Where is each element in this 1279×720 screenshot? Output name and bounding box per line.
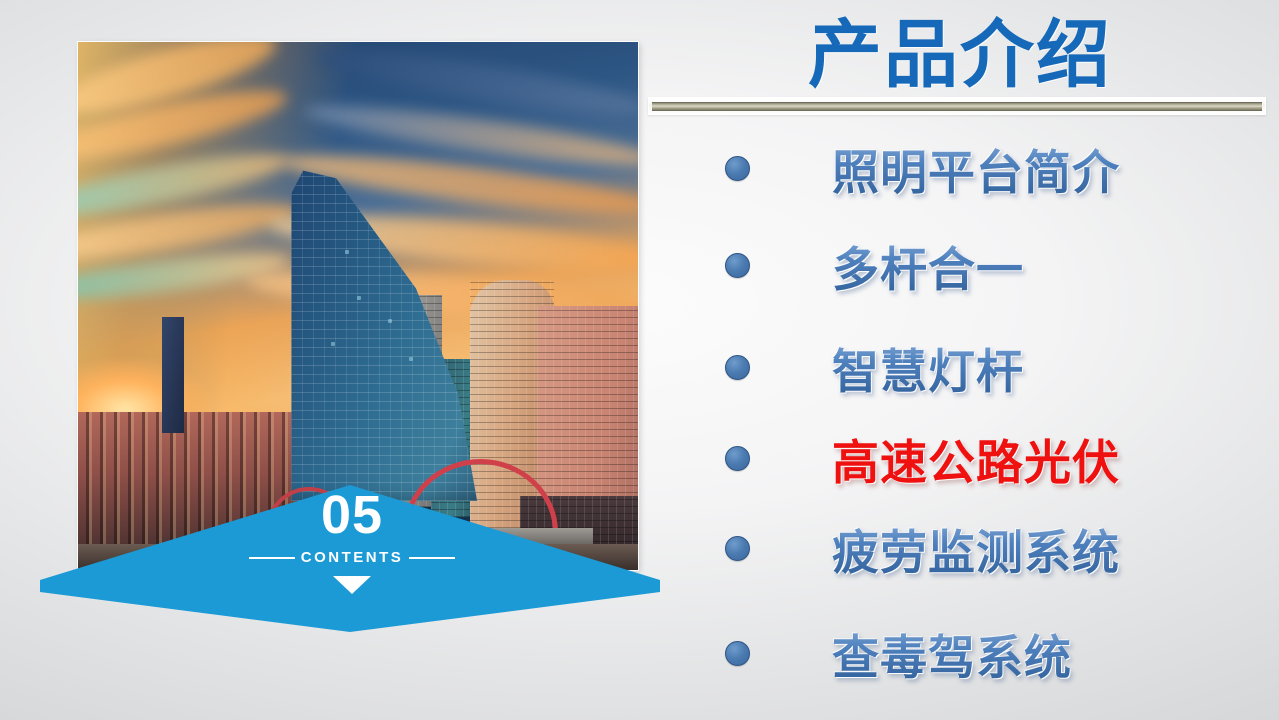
page-title: 产品介绍 <box>660 2 1260 94</box>
bullet-dot-icon <box>725 446 750 471</box>
contents-rule-left <box>249 557 295 559</box>
list-item-label: 照明平台简介 <box>832 134 1120 203</box>
section-number: 05 <box>321 488 383 542</box>
contents-label: CONTENTS <box>301 549 404 566</box>
page-title-text: 产品介绍 <box>808 0 1112 102</box>
bullet-dot-icon <box>725 355 750 380</box>
bullet-dot-icon <box>725 253 750 278</box>
bullet-dot-icon <box>725 641 750 666</box>
list-item-label: 高速公路光伏 <box>832 424 1120 493</box>
list-item[interactable]: 查毒驾系统 <box>660 620 1072 686</box>
list-item-label: 疲劳监测系统 <box>832 514 1120 583</box>
contents-label-row: CONTENTS <box>249 549 456 566</box>
bullet-dot-icon <box>725 536 750 561</box>
presentation-slide: 05 CONTENTS 产品介绍 照明平台简介 多杆合一 智慧灯杆 高速公路 <box>0 0 1279 720</box>
left-spire-tower <box>162 317 184 433</box>
contents-rule-right <box>409 557 455 559</box>
list-item[interactable]: 多杆合一 <box>660 232 1024 298</box>
list-item[interactable]: 高速公路光伏 <box>660 425 1120 491</box>
list-item-label: 查毒驾系统 <box>832 619 1072 688</box>
list-item[interactable]: 疲劳监测系统 <box>660 515 1120 581</box>
bullet-dot-icon <box>725 156 750 181</box>
list-item-label: 多杆合一 <box>832 231 1024 300</box>
list-item-label: 智慧灯杆 <box>832 333 1024 402</box>
contents-badge: 05 CONTENTS <box>0 480 700 635</box>
list-item[interactable]: 智慧灯杆 <box>660 334 1024 400</box>
divider-bar <box>652 102 1262 111</box>
triangle-down-icon <box>333 576 371 594</box>
title-divider <box>648 97 1266 115</box>
list-item[interactable]: 照明平台简介 <box>660 135 1120 201</box>
contents-list: 照明平台简介 多杆合一 智慧灯杆 高速公路光伏 疲劳监测系统 查毒驾系统 <box>660 128 1270 703</box>
